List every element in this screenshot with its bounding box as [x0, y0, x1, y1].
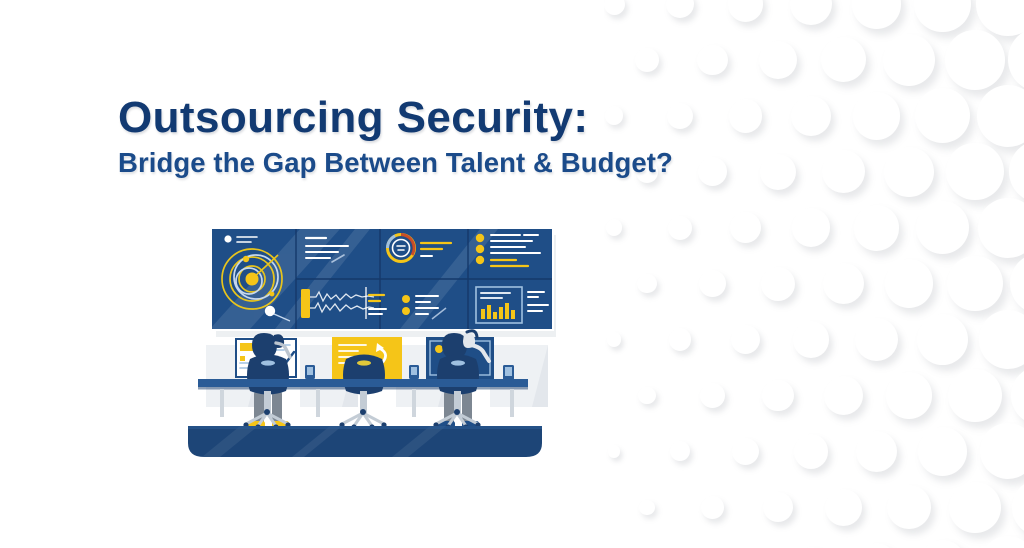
background-dot [945, 30, 1005, 90]
background-dot [918, 427, 967, 476]
background-dot [1009, 140, 1024, 203]
background-dot [697, 45, 728, 76]
background-dot [635, 48, 659, 72]
background-dot [700, 383, 725, 408]
background-dot [1012, 479, 1024, 536]
page-subtitle: Bridge the Gap Between Talent & Budget? [118, 148, 673, 178]
background-dot [637, 274, 657, 294]
background-dot [857, 543, 897, 548]
background-dot [701, 496, 724, 519]
background-dot [821, 37, 866, 82]
background-dot [978, 198, 1024, 258]
background-dot [916, 201, 969, 254]
background-dot [852, 0, 902, 29]
headline-block: Outsourcing Security: Bridge the Gap Bet… [118, 95, 673, 178]
radar-blip-white [265, 306, 275, 316]
background-dot [883, 34, 935, 86]
background-dot [639, 500, 654, 515]
radar-blip-upper [243, 256, 249, 262]
background-dot [1010, 253, 1024, 314]
background-dot [825, 489, 862, 526]
background-dot [976, 0, 1024, 36]
background-dot [947, 256, 1002, 311]
background-dot [981, 536, 1024, 548]
background-dot [728, 0, 763, 22]
background-dot [884, 147, 934, 197]
page-title: Outsourcing Security: [118, 95, 673, 141]
background-dot [823, 263, 864, 304]
background-dot [886, 372, 932, 418]
background-dot [919, 540, 966, 548]
background-dot [698, 157, 727, 186]
background-dot [638, 387, 655, 404]
background-dot [759, 41, 797, 79]
background-dot [853, 92, 901, 140]
background-dot [948, 369, 1001, 422]
background-dot [915, 88, 970, 143]
waveform-marker [301, 289, 310, 318]
background-dot [731, 325, 760, 354]
background-dot [980, 423, 1024, 479]
background-dot [761, 267, 795, 301]
background-dot [1011, 366, 1024, 425]
background-dot [822, 150, 865, 193]
background-dot [887, 485, 931, 529]
background-dot [604, 0, 625, 15]
radar-center-blip [246, 273, 259, 286]
background-dot [669, 328, 691, 350]
background-dot [914, 0, 971, 32]
background-dot [791, 96, 832, 137]
background-dot [790, 0, 833, 25]
poster-canvas: Outsourcing Security: Bridge the Gap Bet… [0, 0, 1024, 548]
background-dot [760, 154, 796, 190]
background-dot [949, 482, 1000, 533]
background-dot [793, 321, 829, 357]
background-dot [885, 259, 933, 307]
video-wall [210, 227, 554, 331]
background-dot [917, 314, 968, 365]
background-dot [699, 270, 726, 297]
radar-status-dot [224, 235, 231, 242]
background-dot [792, 208, 831, 247]
background-dot [855, 318, 899, 362]
background-dot [854, 205, 900, 251]
background-dot [670, 441, 690, 461]
background-dot [794, 434, 828, 468]
radar-blip-lower [270, 292, 275, 297]
background-dot [762, 380, 794, 412]
background-dot [977, 85, 1024, 147]
background-dot [730, 212, 761, 243]
background-dot [666, 0, 694, 18]
background-dot [824, 376, 863, 415]
background-dot [946, 143, 1003, 200]
background-dot [1008, 27, 1024, 92]
security-operations-center-illustration [180, 215, 610, 475]
background-dot [732, 438, 759, 465]
background-dot [729, 99, 762, 132]
background-dot [668, 216, 692, 240]
background-dot [856, 431, 898, 473]
background-dot [763, 492, 793, 522]
dot-pattern-background [604, 0, 1024, 548]
background-dot [979, 310, 1024, 368]
floor-platform [188, 426, 542, 457]
